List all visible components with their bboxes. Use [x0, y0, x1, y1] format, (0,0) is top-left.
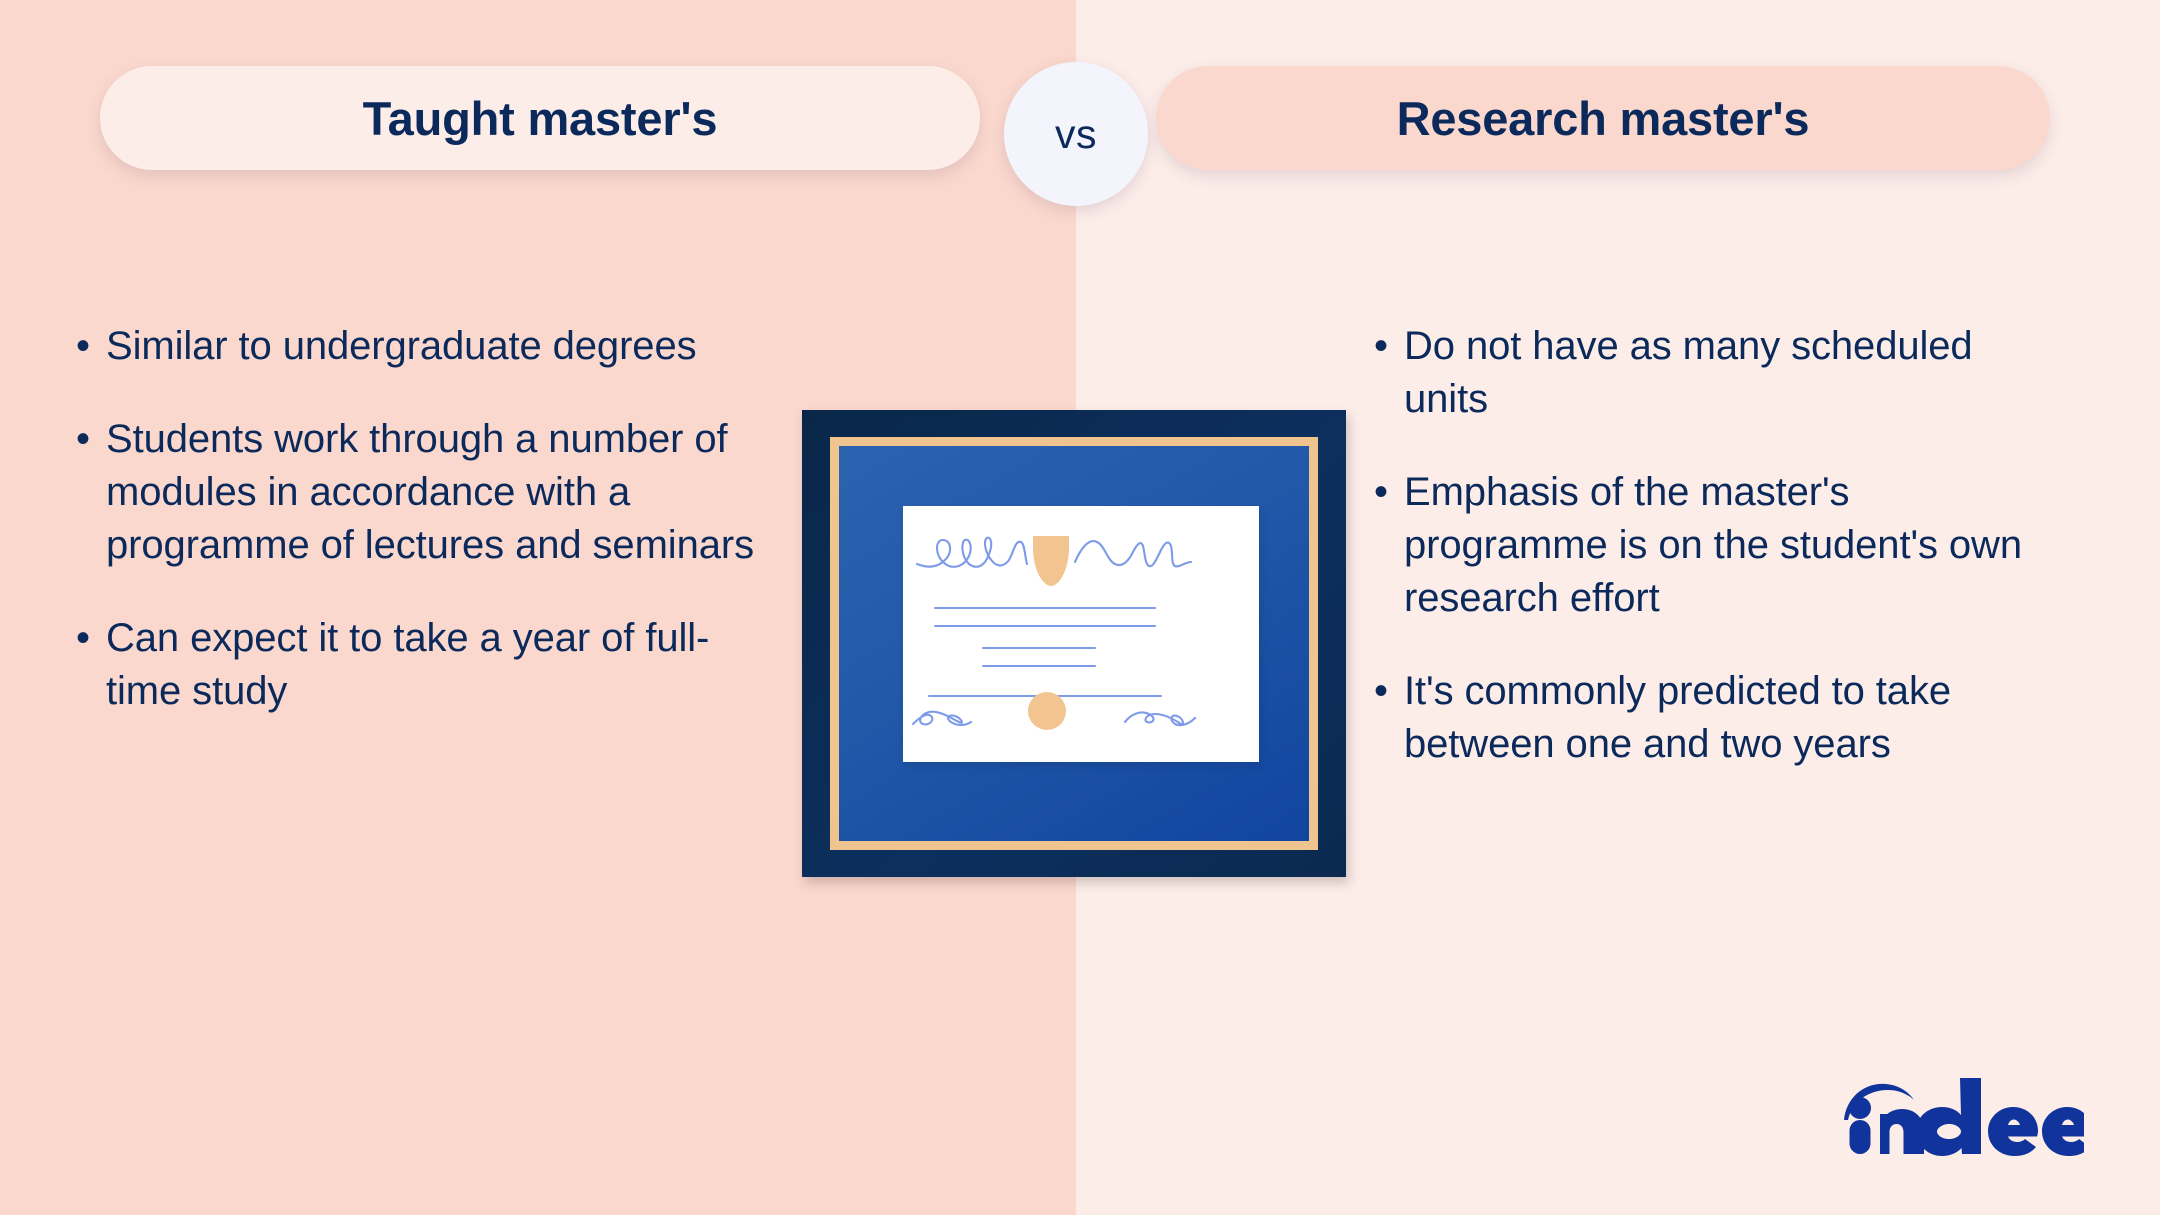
- certificate-paper: [903, 506, 1259, 762]
- bullet-marker-icon: •: [72, 320, 106, 373]
- list-item-text: Can expect it to take a year of full-tim…: [106, 612, 762, 718]
- indeed-logo: [1840, 1078, 2084, 1156]
- list-item: • Similar to undergraduate degrees: [72, 320, 762, 373]
- right-bullet-list: • Do not have as many scheduled units • …: [1370, 320, 2050, 811]
- bullet-marker-icon: •: [1370, 466, 1404, 519]
- list-item: • It's commonly predicted to take betwee…: [1370, 665, 2050, 771]
- list-item-text: Emphasis of the master's programme is on…: [1404, 466, 2050, 625]
- bullet-marker-icon: •: [1370, 320, 1404, 373]
- framed-diploma-icon: [802, 410, 1346, 877]
- bullet-marker-icon: •: [72, 612, 106, 665]
- left-heading-pill: Taught master's: [100, 66, 980, 170]
- left-heading-label: Taught master's: [363, 91, 718, 146]
- list-item-text: Similar to undergraduate degrees: [106, 320, 697, 373]
- bullet-marker-icon: •: [72, 413, 106, 466]
- certificate-blue-mat: [839, 446, 1309, 841]
- certificate-frame: [802, 410, 1346, 877]
- list-item-text: Do not have as many scheduled units: [1404, 320, 2050, 426]
- left-bullet-list: • Similar to undergraduate degrees • Stu…: [72, 320, 762, 758]
- list-item: • Do not have as many scheduled units: [1370, 320, 2050, 426]
- right-heading-label: Research master's: [1397, 91, 1810, 146]
- list-item-text: Students work through a number of module…: [106, 413, 762, 572]
- versus-label: vs: [1055, 111, 1097, 158]
- list-item: • Students work through a number of modu…: [72, 413, 762, 572]
- bullet-marker-icon: •: [1370, 665, 1404, 718]
- right-heading-pill: Research master's: [1156, 66, 2050, 170]
- list-item-text: It's commonly predicted to take between …: [1404, 665, 2050, 771]
- list-item: • Can expect it to take a year of full-t…: [72, 612, 762, 718]
- versus-badge: vs: [1004, 62, 1148, 206]
- list-item: • Emphasis of the master's programme is …: [1370, 466, 2050, 625]
- certificate-gold-border: [830, 437, 1318, 850]
- infographic-canvas: Taught master's Research master's vs • S…: [0, 0, 2160, 1215]
